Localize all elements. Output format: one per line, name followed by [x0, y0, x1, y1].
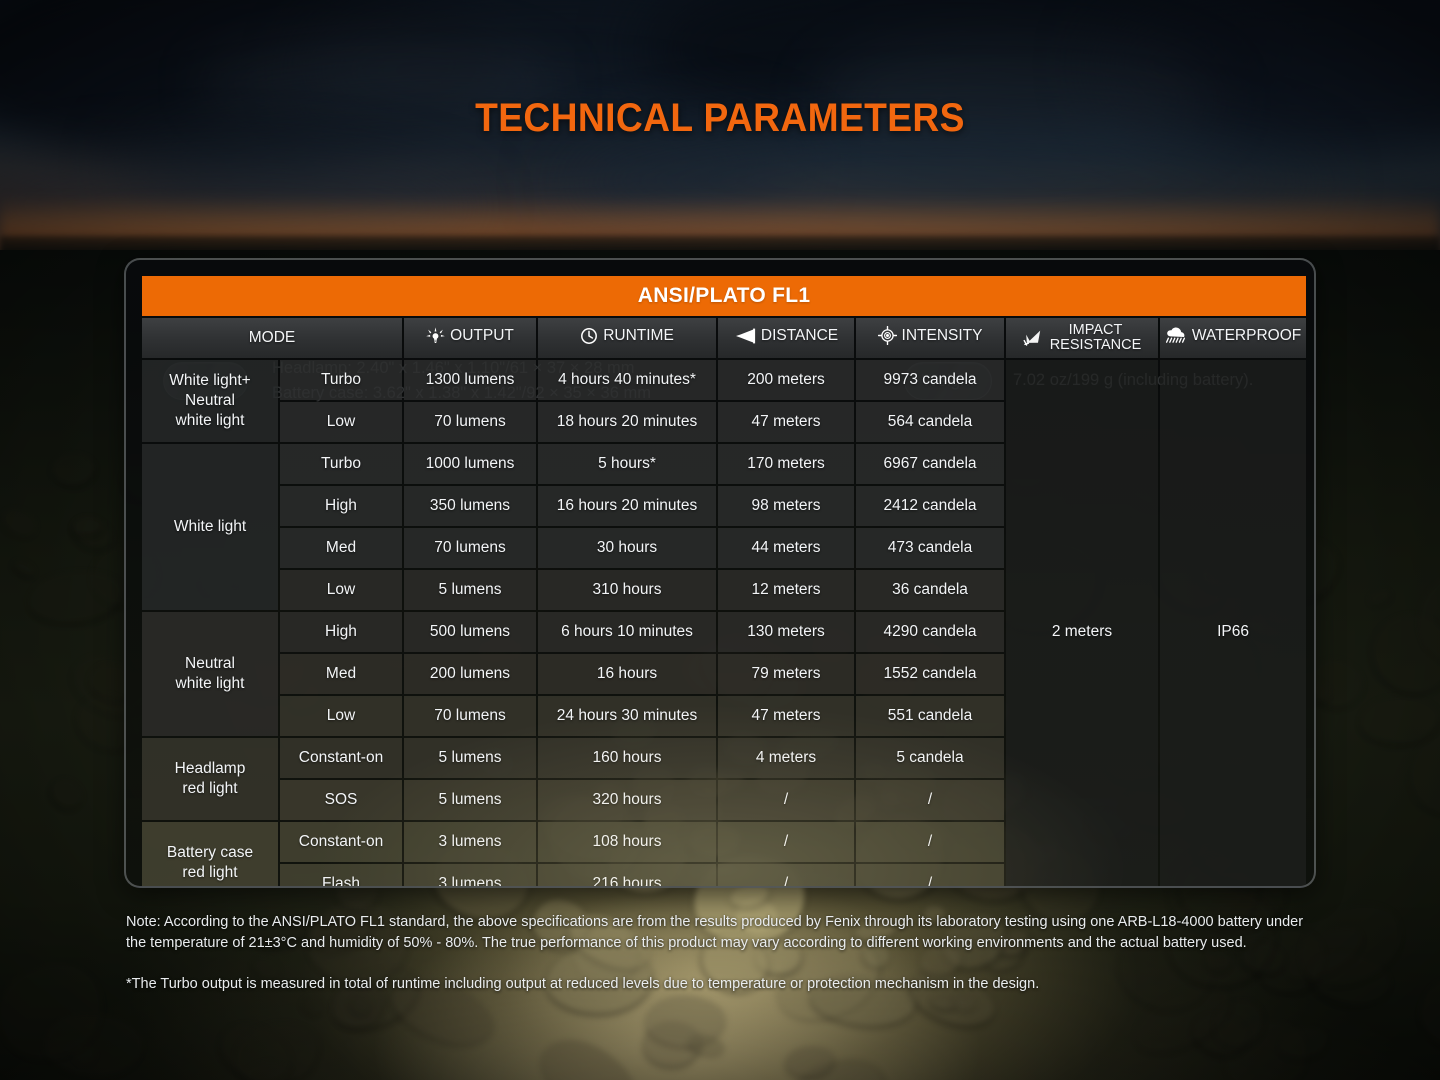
cell-output: 350 lumens — [404, 486, 536, 526]
cell-output: 70 lumens — [404, 696, 536, 736]
cell-runtime: 320 hours — [538, 780, 716, 820]
cell-distance: 200 meters — [718, 360, 854, 400]
page-title: TECHNICAL PARAMETERS — [50, 96, 1389, 141]
cell-level: Flash — [280, 864, 402, 888]
cell-level: Low — [280, 402, 402, 442]
ansi-plato-table: ANSI/PLATO FL1 MODE — [140, 274, 1308, 888]
cell-intensity: 5 candela — [856, 738, 1004, 778]
cell-distance: 47 meters — [718, 402, 854, 442]
cell-runtime: 160 hours — [538, 738, 716, 778]
cell-intensity: 6967 candela — [856, 444, 1004, 484]
clock-icon — [580, 327, 598, 345]
cell-distance: 12 meters — [718, 570, 854, 610]
cell-output: 500 lumens — [404, 612, 536, 652]
waterproof-value: IP66 — [1160, 360, 1306, 888]
cell-output: 200 lumens — [404, 654, 536, 694]
rock-shape — [1366, 586, 1393, 608]
cell-intensity: 473 candela — [856, 528, 1004, 568]
cell-level: Med — [280, 654, 402, 694]
table-banner: ANSI/PLATO FL1 — [142, 276, 1306, 316]
cell-distance: / — [718, 864, 854, 888]
cell-intensity: 4290 candela — [856, 612, 1004, 652]
cell-output: 70 lumens — [404, 528, 536, 568]
cell-runtime: 6 hours 10 minutes — [538, 612, 716, 652]
cell-distance: / — [718, 780, 854, 820]
mode-group-cell: Neutralwhite light — [142, 612, 278, 736]
column-header-distance: DISTANCE — [718, 318, 854, 358]
table-body: White light+Neutralwhite lightTurbo1300 … — [142, 360, 1306, 888]
cell-level: High — [280, 486, 402, 526]
rock-shape — [46, 774, 87, 813]
cell-runtime: 30 hours — [538, 528, 716, 568]
cell-distance: / — [718, 822, 854, 862]
cell-level: Low — [280, 570, 402, 610]
column-header-impact-resistance: IMPACT RESISTANCE — [1006, 318, 1158, 358]
column-label-intensity: INTENSITY — [902, 327, 983, 345]
cell-intensity: / — [856, 822, 1004, 862]
cell-intensity: 36 candela — [856, 570, 1004, 610]
cell-runtime: 16 hours 20 minutes — [538, 486, 716, 526]
cell-runtime: 24 hours 30 minutes — [538, 696, 716, 736]
cell-distance: 47 meters — [718, 696, 854, 736]
column-label-waterproof: WATERPROOF — [1192, 327, 1301, 345]
crosshair-icon — [878, 326, 897, 345]
note-standard: Note: According to the ANSI/PLATO FL1 st… — [126, 912, 1316, 954]
cell-level: Med — [280, 528, 402, 568]
column-label-impact-line1: IMPACT — [1069, 322, 1123, 338]
rock-shape — [0, 501, 42, 541]
cell-distance: 4 meters — [718, 738, 854, 778]
cell-runtime: 4 hours 40 minutes* — [538, 360, 716, 400]
table-header-row: MODE OUTPUT — [142, 318, 1306, 358]
column-label-impact-line2: RESISTANCE — [1050, 337, 1142, 353]
column-header-intensity: INTENSITY — [856, 318, 1004, 358]
rock-shape — [25, 566, 125, 628]
cell-runtime: 5 hours* — [538, 444, 716, 484]
cell-level: Low — [280, 696, 402, 736]
cell-output: 70 lumens — [404, 402, 536, 442]
table-row: White light+Neutralwhite lightTurbo1300 … — [142, 360, 1306, 400]
rock-shape — [42, 1011, 143, 1079]
cell-level: Turbo — [280, 444, 402, 484]
cell-runtime: 18 hours 20 minutes — [538, 402, 716, 442]
rock-shape — [12, 557, 38, 579]
cell-runtime: 310 hours — [538, 570, 716, 610]
column-label-mode: MODE — [249, 329, 296, 347]
cell-intensity: / — [856, 864, 1004, 888]
rock-shape — [51, 452, 96, 486]
mode-group-cell: Battery casered light — [142, 822, 278, 888]
cell-distance: 130 meters — [718, 612, 854, 652]
rock-shape — [952, 995, 975, 1010]
cell-output: 3 lumens — [404, 864, 536, 888]
cell-runtime: 16 hours — [538, 654, 716, 694]
column-header-mode: MODE — [142, 318, 402, 358]
cell-output: 5 lumens — [404, 570, 536, 610]
rock-shape — [530, 1027, 645, 1080]
mode-group-cell: Headlampred light — [142, 738, 278, 820]
cell-output: 1300 lumens — [404, 360, 536, 400]
rain-cloud-icon — [1165, 327, 1187, 345]
cell-intensity: 564 candela — [856, 402, 1004, 442]
column-label-output: OUTPUT — [450, 327, 514, 345]
mode-group-cell: White light+Neutralwhite light — [142, 360, 278, 442]
cell-runtime: 108 hours — [538, 822, 716, 862]
column-header-output: OUTPUT — [404, 318, 536, 358]
impact-resistance-value: 2 meters — [1006, 360, 1158, 888]
cell-distance: 44 meters — [718, 528, 854, 568]
cell-level: High — [280, 612, 402, 652]
cell-intensity: / — [856, 780, 1004, 820]
table-banner-row: ANSI/PLATO FL1 — [142, 276, 1306, 316]
cell-output: 3 lumens — [404, 822, 536, 862]
specifications-panel: ANSI/PLATO FL1 MODE — [124, 258, 1316, 888]
cell-level: Constant-on — [280, 738, 402, 778]
cell-distance: 170 meters — [718, 444, 854, 484]
cell-level: Turbo — [280, 360, 402, 400]
note-turbo: *The Turbo output is measured in total o… — [126, 974, 1316, 995]
cell-level: Constant-on — [280, 822, 402, 862]
cell-distance: 98 meters — [718, 486, 854, 526]
cell-level: SOS — [280, 780, 402, 820]
rock-shape — [1358, 694, 1440, 746]
mode-group-cell: White light — [142, 444, 278, 610]
cell-intensity: 1552 candela — [856, 654, 1004, 694]
footnotes: Note: According to the ANSI/PLATO FL1 st… — [126, 912, 1316, 995]
rock-shape — [1416, 971, 1440, 1058]
column-label-runtime: RUNTIME — [603, 327, 674, 345]
cell-intensity: 2412 candela — [856, 486, 1004, 526]
column-label-distance: DISTANCE — [761, 327, 838, 345]
cell-output: 1000 lumens — [404, 444, 536, 484]
light-output-icon — [426, 327, 445, 344]
cell-intensity: 551 candela — [856, 696, 1004, 736]
size-weight-bar: Size Headlamp: 2.40" x 1.46" x 1.10"/61 … — [0, 176, 1440, 236]
rock-shape — [299, 993, 327, 1018]
cell-output: 5 lumens — [404, 780, 536, 820]
cell-intensity: 9973 candela — [856, 360, 1004, 400]
cell-distance: 79 meters — [718, 654, 854, 694]
impact-resistance-icon — [1023, 328, 1045, 348]
column-header-waterproof: WATERPROOF — [1160, 318, 1306, 358]
beam-distance-icon — [734, 328, 756, 344]
cell-runtime: 216 hours — [538, 864, 716, 888]
cell-output: 5 lumens — [404, 738, 536, 778]
column-header-runtime: RUNTIME — [538, 318, 716, 358]
